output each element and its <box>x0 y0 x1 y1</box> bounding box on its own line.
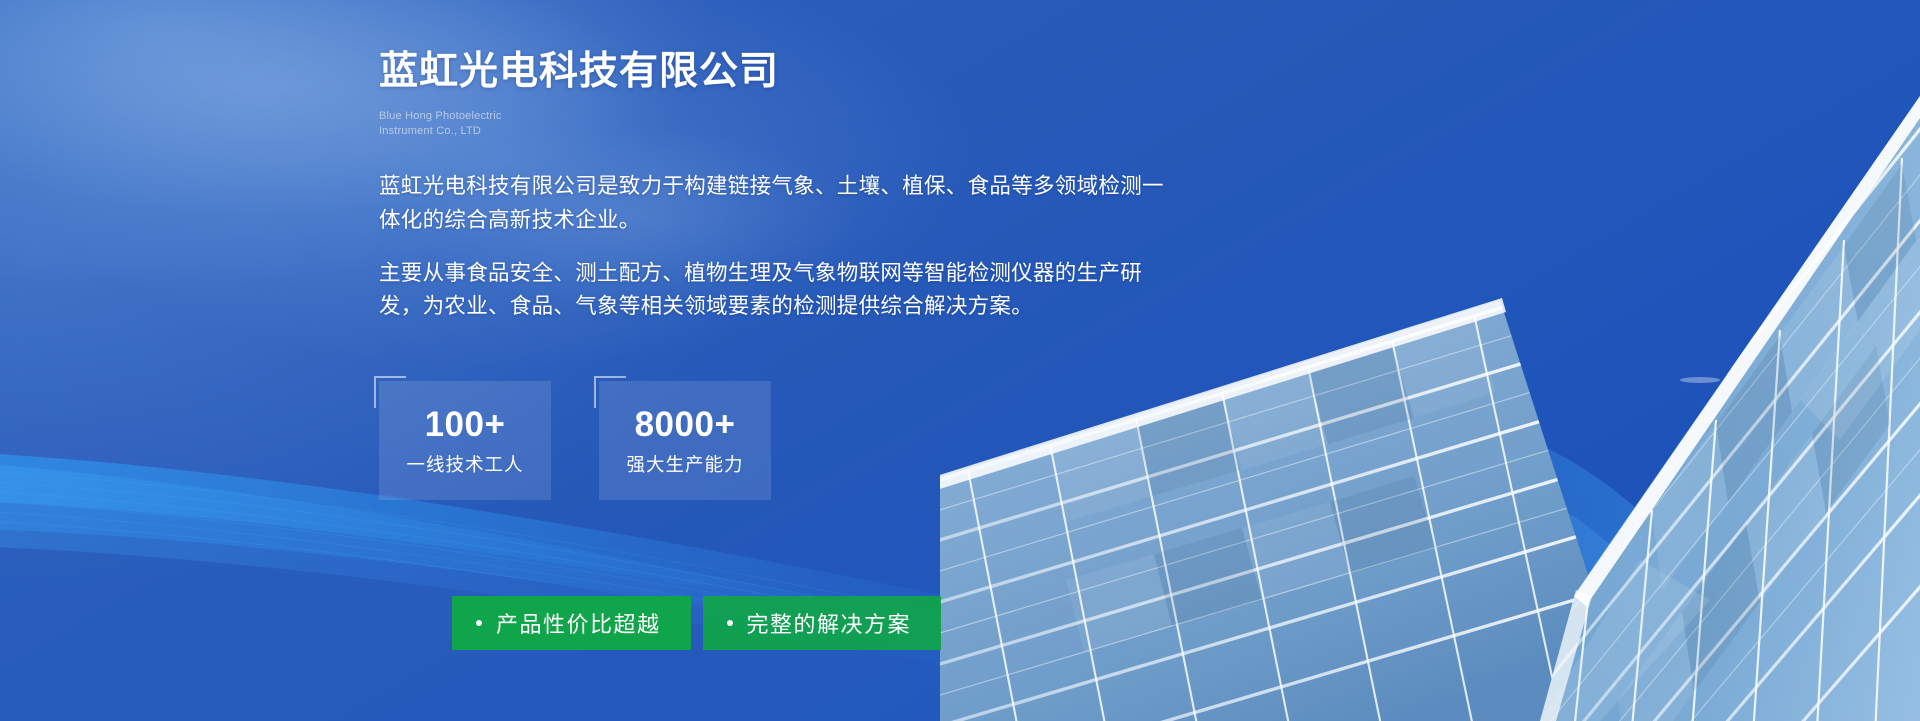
stat-value-capacity: 8000+ <box>635 407 736 442</box>
company-hero-banner: 蓝虹光电科技有限公司 Blue Hong Photoelectric Instr… <box>0 0 1920 721</box>
statistics-group: 100+ 一线技术工人 8000+ 强大生产能力 <box>379 381 771 500</box>
stat-card-capacity: 8000+ 强大生产能力 <box>599 381 771 500</box>
subtitle-line-2: Instrument Co., LTD <box>379 124 1479 139</box>
stat-card-workers: 100+ 一线技术工人 <box>379 381 551 500</box>
bullet-dot-icon <box>727 620 733 626</box>
feature-tag-value-label: 产品性价比超越 <box>496 607 661 639</box>
description-paragraph-1: 蓝虹光电科技有限公司是致力于构建链接气象、土壤、植保、食品等多领域检测一体化的综… <box>379 170 1179 237</box>
stat-value-workers: 100+ <box>425 407 506 442</box>
company-description: 蓝虹光电科技有限公司是致力于构建链接气象、土壤、植保、食品等多领域检测一体化的综… <box>379 170 1479 323</box>
bullet-dot-icon <box>476 620 482 626</box>
feature-tag-solution-label: 完整的解决方案 <box>747 607 912 639</box>
company-title: 蓝虹光电科技有限公司 <box>379 0 1479 97</box>
banner-content: 蓝虹光电科技有限公司 Blue Hong Photoelectric Instr… <box>379 0 1479 324</box>
feature-tag-solution[interactable]: 完整的解决方案 <box>703 596 942 650</box>
feature-tag-value[interactable]: 产品性价比超越 <box>452 596 691 650</box>
stat-label-workers: 一线技术工人 <box>406 456 523 475</box>
company-subtitle-english: Blue Hong Photoelectric Instrument Co., … <box>379 109 1479 139</box>
subtitle-line-1: Blue Hong Photoelectric <box>379 109 1479 124</box>
description-paragraph-2: 主要从事食品安全、测土配方、植物生理及气象物联网等智能检测仪器的生产研发，为农业… <box>379 257 1174 324</box>
stat-label-capacity: 强大生产能力 <box>626 456 743 475</box>
feature-tags-group: 产品性价比超越 完整的解决方案 <box>452 596 941 650</box>
